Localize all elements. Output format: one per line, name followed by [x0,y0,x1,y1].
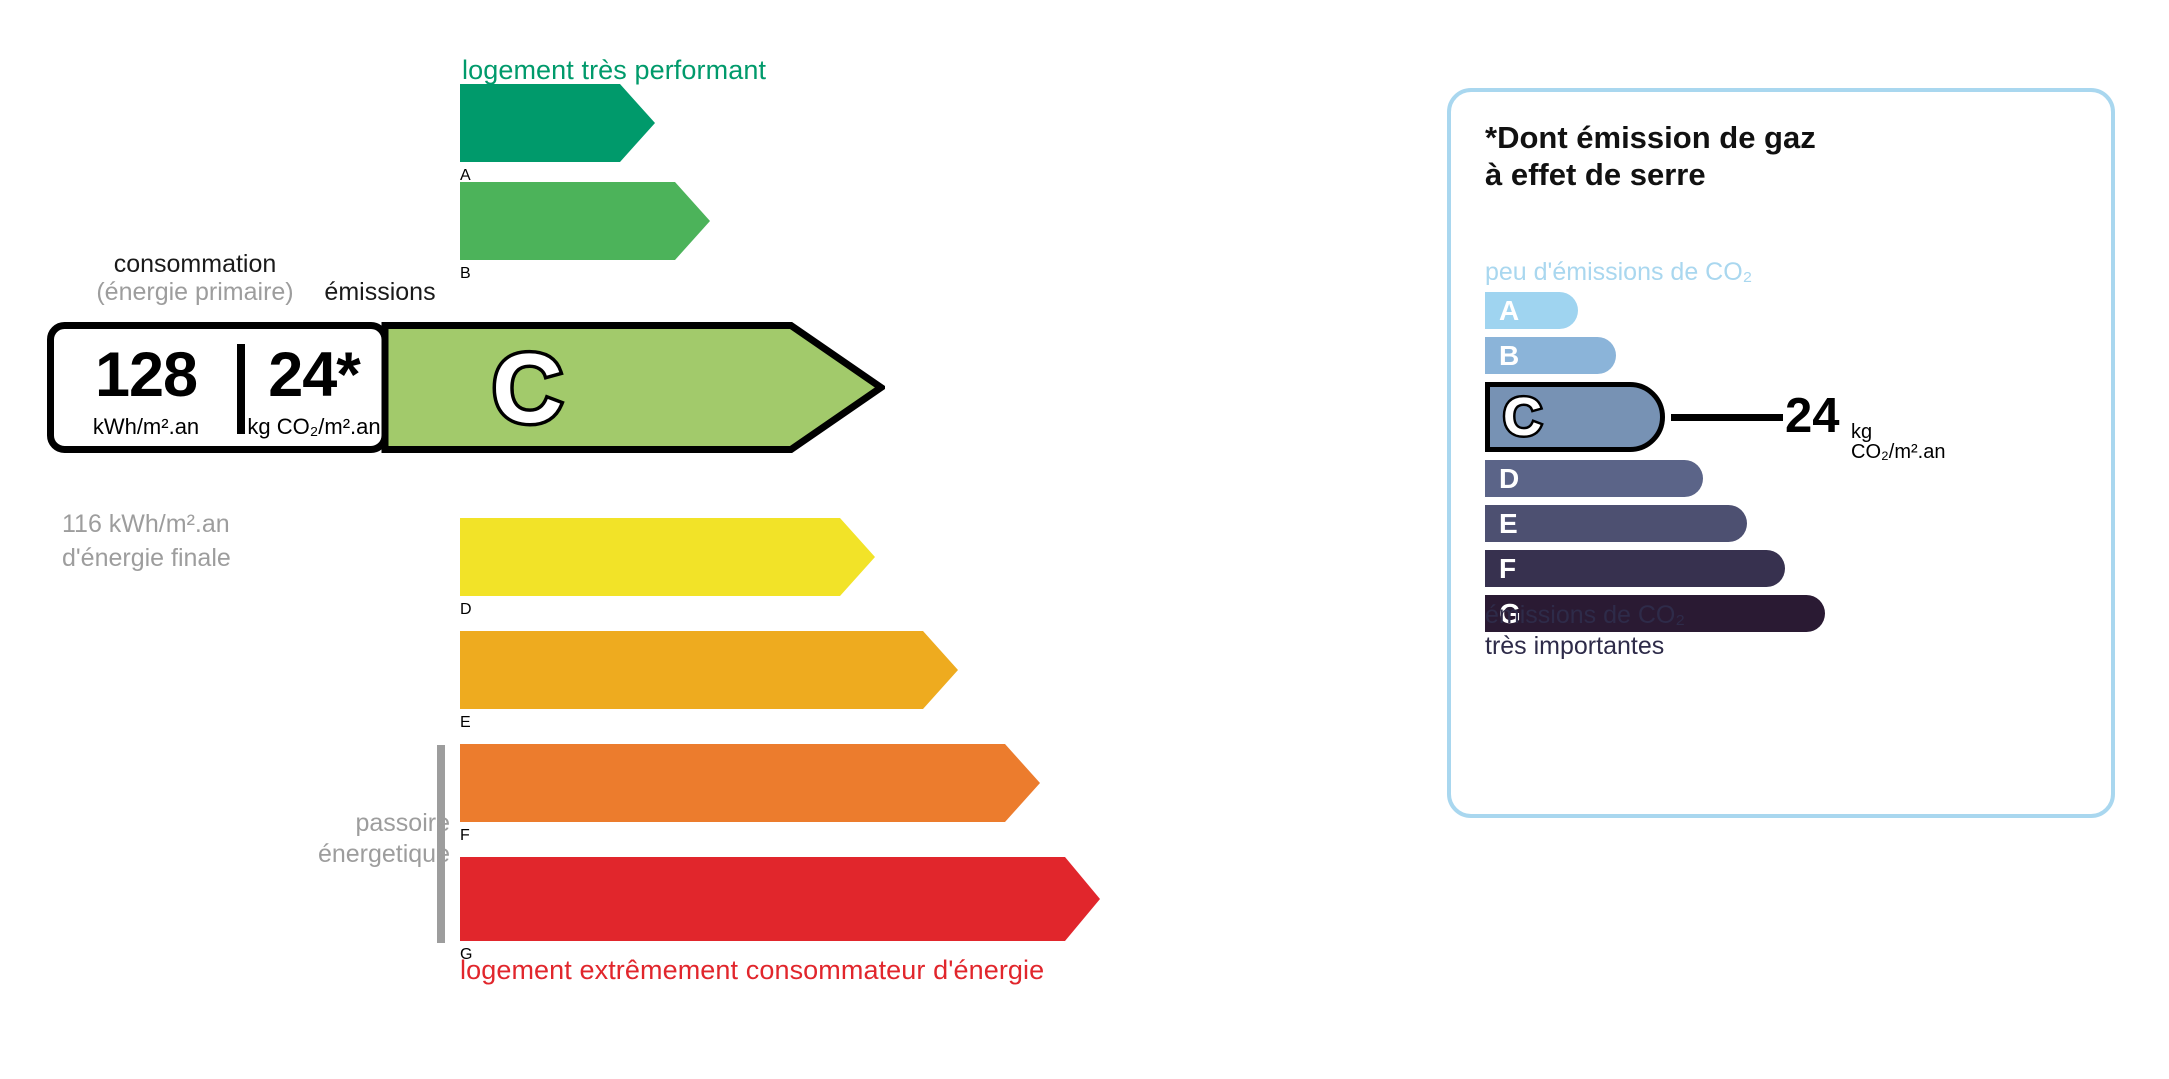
ges-bottom-line1: émissions de CO₂ [1485,600,1685,631]
caption-emissions: émissions [300,278,460,306]
energy-top-label: logement très performant [462,55,766,86]
energy-bar-a: A [460,84,655,185]
ges-bar-d-letter: D [1499,465,1519,493]
ges-top-label: peu d'émissions de CO₂ [1485,258,1752,287]
ges-bar-b-letter: B [1499,342,1519,370]
ges-bar-f-letter: F [1499,555,1516,583]
energy-bar-g: G [460,857,1100,964]
energy-bar-f-letter: F [460,827,1040,845]
energy-scale-panel: logement très performant A B 128 k [0,0,1380,1079]
passoire-label: passoire énergetique [250,808,450,871]
consumption-value: 128 [53,344,239,407]
ges-value-unit: kg CO₂/m².an [1851,422,1945,462]
energy-bottom-label: logement extrêmement consommateur d'éner… [460,955,1044,986]
ges-bottom-line2: très importantes [1485,631,1685,662]
emissions-value: 24* [245,344,383,407]
final-energy-note: 116 kWh/m².an d'énergie finale [62,508,231,576]
dpe-diagram: logement très performant A B 128 k [0,0,2169,1079]
caption-consumption-line2: (énergie primaire) [70,278,320,306]
caption-consumption-line1: consommation [70,250,320,278]
ges-bar-a-letter: A [1499,297,1519,325]
ges-bar-c-letter: C [1503,390,1542,444]
emissions-unit: kg CO₂/m².an [245,416,383,438]
ges-bottom-label: émissions de CO₂ très importantes [1485,600,1685,663]
caption-consumption: consommation (énergie primaire) [70,250,320,306]
energy-bar-e: E [460,631,958,732]
ges-leader-line [1671,414,1783,421]
ges-bar-e-letter: E [1499,510,1518,538]
final-energy-line2: d'énergie finale [62,542,231,576]
final-energy-line1: 116 kWh/m².an [62,508,231,542]
ges-title-line2: à effet de serre [1485,157,1816,194]
energy-bar-f: F [460,744,1040,845]
passoire-line1: passoire [250,808,450,839]
energy-bar-e-letter: E [460,714,958,732]
passoire-line2: énergetique [250,839,450,870]
energy-bar-b-letter: B [460,265,710,283]
energy-bar-b: B [460,182,710,283]
ges-title: *Dont émission de gaz à effet de serre [1485,120,1816,193]
energy-bar-d: D [460,518,875,619]
ges-title-line1: *Dont émission de gaz [1485,120,1816,157]
energy-selected-row: 128 kWh/m².an 24* kg CO₂/m².an C [47,322,885,453]
ges-panel: *Dont émission de gaz à effet de serre p… [1447,88,2115,818]
emissions-value-cell: 24* kg CO₂/m².an [245,322,383,453]
energy-bar-c-letter: C [492,339,563,437]
consumption-unit: kWh/m².an [53,416,239,438]
ges-value: 24 [1785,392,1840,441]
energy-bar-d-letter: D [460,601,875,619]
consumption-value-cell: 128 kWh/m².an [53,322,239,453]
